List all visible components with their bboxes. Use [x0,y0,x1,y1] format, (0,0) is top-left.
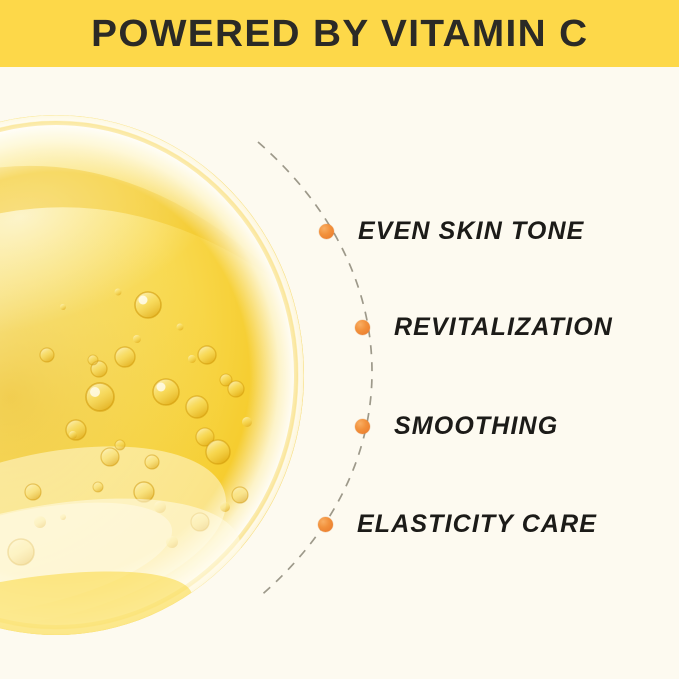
benefit-label: REVITALIZATION [394,315,613,340]
benefit-label: SMOOTHING [394,414,558,439]
benefit-label: EVEN SKIN TONE [358,219,584,244]
benefit-item-revitalization[interactable]: REVITALIZATION [355,315,613,340]
bullet-dot-icon [355,419,370,434]
infographic-canvas: POWERED BY VITAMIN C [0,0,679,679]
bullet-dot-icon [355,320,370,335]
page-title: POWERED BY VITAMIN C [91,15,588,53]
benefits-list: EVEN SKIN TONE REVITALIZATION SMOOTHING … [0,0,679,679]
bullet-dot-icon [318,517,333,532]
benefit-label: ELASTICITY CARE [357,512,597,537]
benefit-item-even-skin-tone[interactable]: EVEN SKIN TONE [319,219,584,244]
benefit-item-smoothing[interactable]: SMOOTHING [355,414,558,439]
benefit-item-elasticity-care[interactable]: ELASTICITY CARE [318,512,597,537]
bullet-dot-icon [319,224,334,239]
header-banner: POWERED BY VITAMIN C [0,0,679,67]
